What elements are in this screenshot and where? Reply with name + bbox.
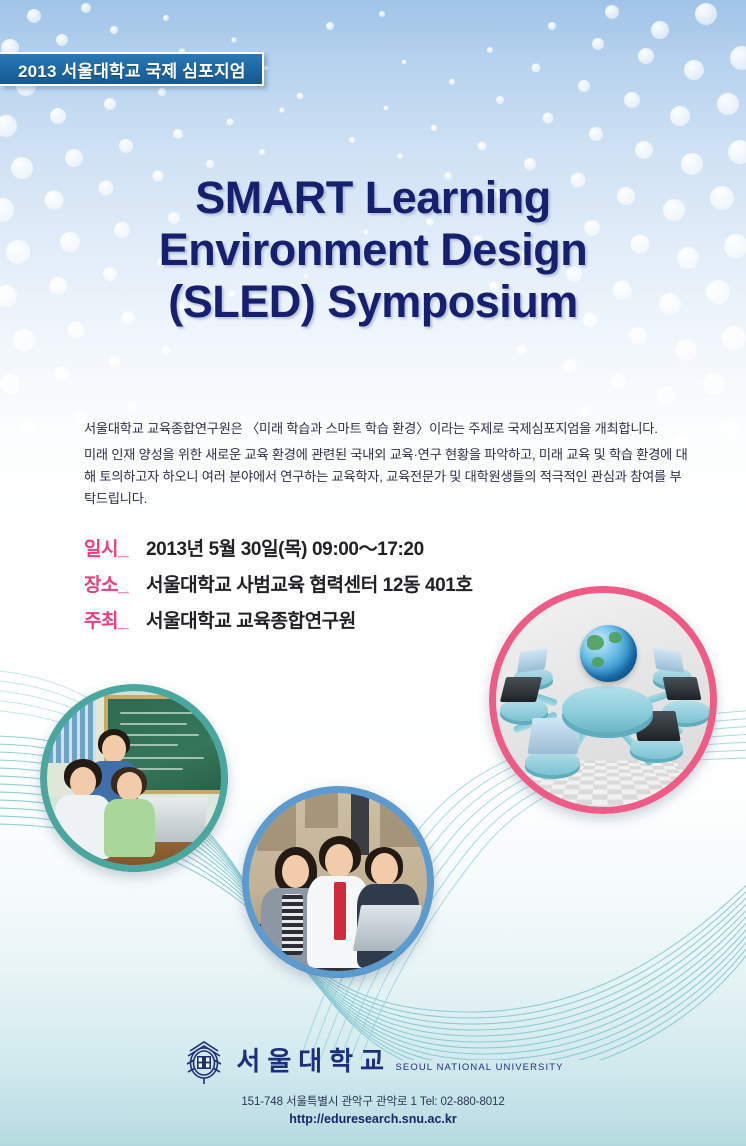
photo-network-image (489, 586, 717, 814)
photo-classroom-children (40, 684, 228, 872)
page-title: SMART Learning Environment Design (SLED)… (0, 172, 746, 328)
students-laptop (353, 905, 423, 951)
checkerboard-floor (489, 760, 717, 814)
website-url[interactable]: http://eduresearch.snu.ac.kr (289, 1111, 456, 1128)
globe-icon (580, 625, 637, 682)
network-hub-platform (562, 686, 653, 732)
child-head-2 (70, 767, 96, 797)
child-body-2 (55, 795, 111, 859)
ribbon-label: 2013 서울대학교 국제 심포지엄 (18, 57, 246, 82)
network-laptop-1 (500, 677, 543, 702)
detail-value-venue: 서울대학교 사범교육 협력센터 12동 401호 (146, 570, 473, 597)
detail-row-venue: 장소_ 서울대학교 사범교육 협력센터 12동 401호 (84, 570, 644, 597)
detail-label-venue: 장소_ (84, 570, 146, 597)
student-necktie (334, 882, 346, 940)
student-scarf (282, 894, 303, 955)
student-head-1 (282, 855, 309, 888)
network-laptop-2 (662, 677, 701, 700)
title-line-3: (SLED) Symposium (0, 276, 746, 328)
intro-paragraph-2: 미래 인재 양성을 위한 새로운 교육 환경에 관련된 국내외 교육·연구 현황… (84, 444, 690, 510)
detail-row-date: 일시_ 2013년 5월 30일(목) 09:00〜17:20 (84, 534, 644, 561)
snu-crest-icon (182, 1038, 226, 1084)
photo-globe-network (489, 586, 717, 814)
intro-paragraph-1: 서울대학교 교육종합연구원은 〈미래 학습과 스마트 학습 환경〉이라는 주제로… (84, 418, 690, 440)
classroom-shelf (48, 699, 97, 763)
intro-text: 서울대학교 교육종합연구원은 〈미래 학습과 스마트 학습 환경〉이라는 주제로… (84, 418, 690, 510)
title-line-2: Environment Design (0, 224, 746, 276)
photo-classroom-image (40, 684, 228, 872)
snu-logo: 서울대학교 SEOUL NATIONAL UNIVERSITY (0, 1038, 746, 1084)
event-series-ribbon: 2013 서울대학교 국제 심포지엄 (0, 52, 264, 86)
detail-label-date: 일시_ (84, 534, 146, 561)
network-tablet-1 (517, 648, 548, 672)
detail-value-host: 서울대학교 교육종합연구원 (146, 606, 356, 633)
snu-name-english: SEOUL NATIONAL UNIVERSITY (395, 1062, 563, 1073)
footer: 서울대학교 SEOUL NATIONAL UNIVERSITY 151-748 … (0, 1038, 746, 1128)
network-tablet-2 (654, 648, 685, 672)
detail-value-date: 2013년 5월 30일(목) 09:00〜17:20 (146, 534, 424, 561)
child-body-3 (104, 799, 155, 857)
child-head-3 (117, 772, 141, 800)
snu-name-korean: 서울대학교 (236, 1046, 391, 1076)
contact-address: 151-748 서울특별시 관악구 관악로 1 Tel: 02-880-8012 (0, 1094, 746, 1110)
symposium-poster: 2013 서울대학교 국제 심포지엄 SMART Learning Enviro… (0, 0, 746, 1146)
title-line-1: SMART Learning (0, 172, 746, 224)
photo-students-image (242, 786, 434, 978)
detail-label-host: 주최_ (84, 606, 146, 633)
snu-logo-wordmark: 서울대학교 SEOUL NATIONAL UNIVERSITY (236, 1047, 563, 1075)
student-head-3 (371, 853, 398, 886)
photo-students-with-laptop (242, 786, 434, 978)
